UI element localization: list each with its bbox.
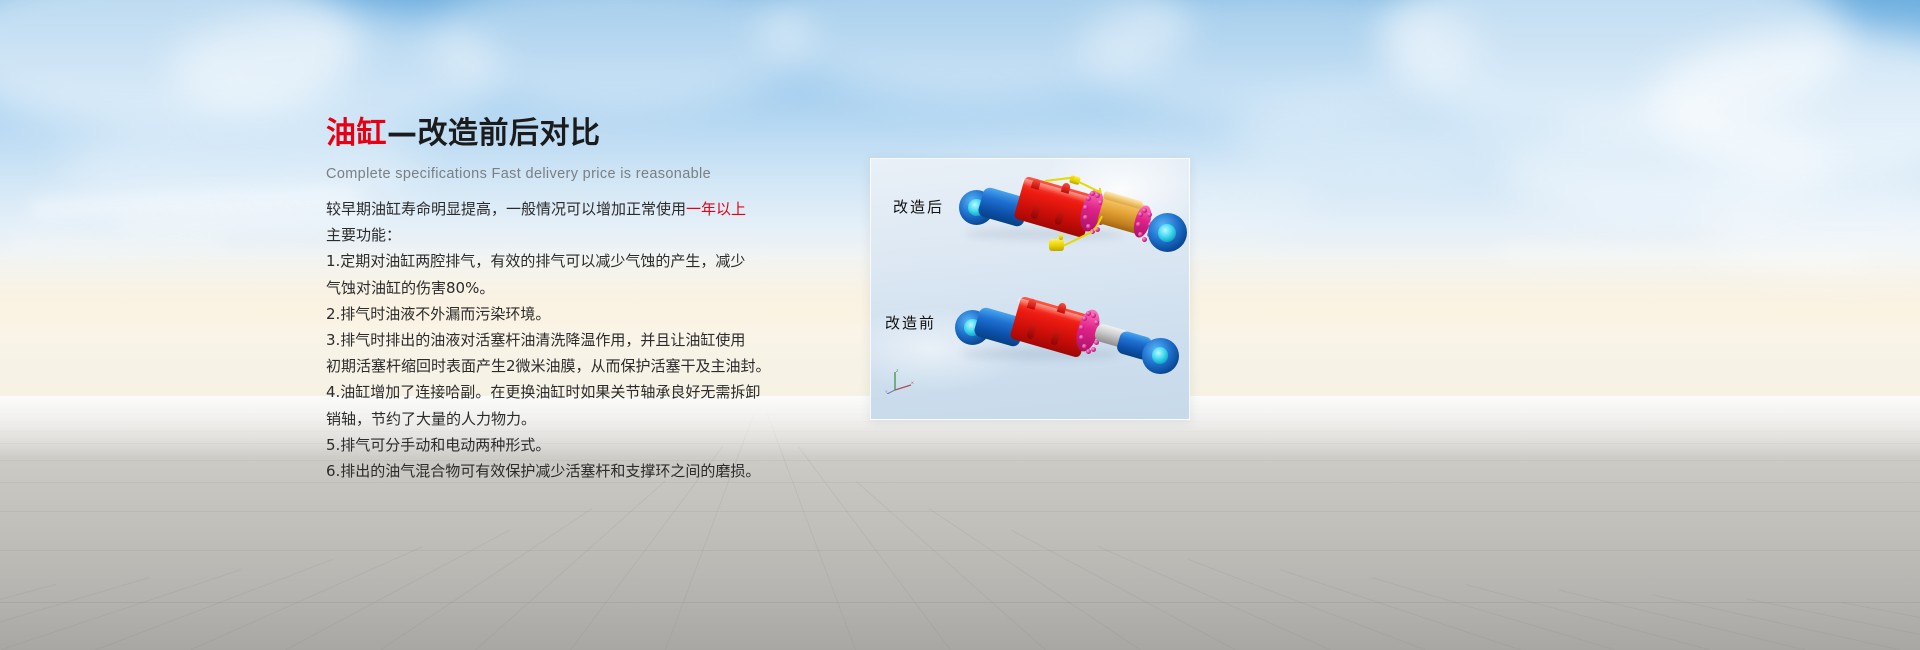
feature-line: 5.排气可分手动和电动两种形式。 (326, 432, 966, 458)
flange-bolt (1091, 313, 1096, 318)
flange-bolt (1091, 347, 1096, 352)
bleed-valve-body (1049, 239, 1064, 251)
flange-bolt (1086, 224, 1091, 229)
label-after: 改造后 (893, 196, 944, 217)
flange-bolt (1142, 208, 1147, 213)
flange-bolt (1095, 193, 1100, 198)
banner-content: 油缸—改造前后对比 Complete specifications Fast d… (0, 0, 1920, 650)
svg-text:Y: Y (885, 389, 888, 394)
title-black-part: —改造前后对比 (387, 116, 601, 151)
page-title: 油缸—改造前后对比 (326, 108, 601, 152)
banner-stage: 油缸—改造前后对比 Complete specifications Fast d… (0, 0, 1920, 650)
title-red-part: 油缸 (326, 116, 387, 151)
flange-bolt (1082, 344, 1087, 349)
label-before: 改造前 (885, 312, 936, 333)
intro-text: 较早期油缸寿命明显提高，一般情况可以增加正常使用 (326, 200, 686, 218)
svg-text:X: X (911, 380, 914, 385)
flange-bolt (1142, 237, 1147, 242)
flange-bolt (1086, 196, 1091, 201)
flange-bolt (1094, 320, 1099, 325)
flange-bolt (1147, 212, 1152, 217)
product-comparison-image: 改造后 改造前 Z X Y (870, 158, 1190, 420)
coordinate-axis-icon: Z X Y (885, 368, 915, 394)
flange-bolt (1083, 205, 1088, 210)
flange-bolt (1086, 349, 1091, 354)
feature-line: 6.排出的油气混合物可有效保护减少活塞杆和支撑环之间的磨损。 (326, 458, 966, 484)
flange-bolt (1079, 325, 1084, 330)
page-subtitle: Complete specifications Fast delivery pr… (326, 166, 711, 182)
svg-text:Z: Z (896, 368, 899, 373)
front-clevis-bore (1158, 224, 1176, 242)
intro-highlight: 一年以上 (686, 200, 746, 218)
flange-bolt (1082, 316, 1087, 321)
